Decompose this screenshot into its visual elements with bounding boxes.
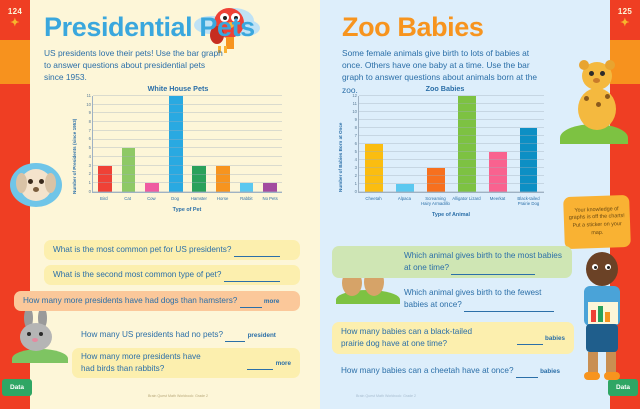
sticker-note: Your knowledge of graphs is off the char…	[563, 195, 631, 249]
chart-y-tick: 0	[89, 190, 91, 194]
chart-x-axis-label: Type of Animal	[358, 212, 544, 218]
chart-y-tick: 7	[89, 129, 91, 133]
question-4-unit: president	[248, 332, 276, 339]
chart-gridline	[93, 182, 282, 183]
question-box-7[interactable]: Which animal gives birth to the fewest b…	[332, 284, 572, 314]
question-box-9[interactable]: How many babies can a cheetah have at on…	[332, 362, 574, 380]
chart-bar	[216, 166, 230, 192]
chart-bar-cell	[235, 96, 259, 192]
answer-blank-8[interactable]	[517, 332, 543, 345]
chart-y-tick: 7	[355, 134, 357, 138]
section-tab-data-right[interactable]: Data	[608, 379, 638, 396]
section-tab-label: Data	[616, 384, 630, 391]
question-box-1[interactable]: What is the most common pet for US presi…	[44, 240, 300, 260]
section-tab-label: Data	[10, 384, 24, 391]
chart-gridline	[359, 95, 544, 96]
chart-gridline	[359, 159, 544, 160]
page-number-left: 124 ✦	[0, 7, 30, 29]
chart-y-tick: 2	[355, 174, 357, 178]
chart-plot-area: 01234567891011	[92, 96, 282, 193]
page-number-text: 124	[8, 7, 22, 16]
chart-y-tick: 10	[86, 103, 91, 107]
chart-gridline	[93, 174, 282, 175]
page-intro-left: US presidents love their pets! Use the b…	[44, 47, 224, 84]
footer-right: Brain Quest Math Workbook: Grade 2	[356, 394, 416, 398]
question-6-text: Which animal gives birth to the most bab…	[332, 250, 572, 275]
question-4-text: How many US presidents had no pets? pres…	[72, 329, 300, 342]
chart-gridline	[359, 127, 544, 128]
chart-plot-area: 0123456789101112	[358, 96, 544, 193]
chart-bar-cell	[140, 96, 164, 192]
chart-gridline	[93, 121, 282, 122]
chart-gridline	[359, 103, 544, 104]
chart-y-tick: 8	[355, 126, 357, 130]
chart-y-tick: 2	[89, 172, 91, 176]
chart-gridline	[359, 167, 544, 168]
chart-x-tick: Cow	[140, 196, 164, 201]
chart-gridline	[93, 191, 282, 192]
answer-blank-6[interactable]	[451, 262, 535, 275]
question-2-label: What is the second most common type of p…	[53, 270, 221, 279]
chart-title: White House Pets	[66, 84, 290, 93]
question-8-label: How many babies can a black-tailed prair…	[341, 326, 491, 350]
chart-bar-cell	[164, 96, 188, 192]
question-3-label: How many more presidents have had dogs t…	[23, 296, 237, 305]
chart-gridline	[93, 130, 282, 131]
answer-blank-7[interactable]	[464, 299, 554, 312]
footer-left: Brain Quest Math Workbook: Grade 2	[148, 394, 208, 398]
chart-zoo-babies: Zoo Babies Number of Babies Born at Once…	[332, 84, 558, 220]
chart-gridline	[359, 151, 544, 152]
chart-x-tick: Screaming Hairy Armadillo	[420, 196, 451, 207]
chart-x-tick: Dog	[163, 196, 187, 201]
question-box-5[interactable]: How many more presidents have had birds …	[72, 348, 300, 378]
chart-x-tick: Cat	[116, 196, 140, 201]
chart-gridline	[93, 139, 282, 140]
chart-bar	[427, 168, 445, 192]
chart-bar-cell	[211, 96, 235, 192]
chart-y-tick: 3	[89, 164, 91, 168]
chart-gridline	[93, 156, 282, 157]
chart-x-tick: Hamster	[187, 196, 211, 201]
chart-y-tick: 10	[352, 110, 357, 114]
page-number-text: 125	[618, 7, 632, 16]
chart-gridline	[93, 165, 282, 166]
page-edge-left	[0, 0, 30, 409]
sticker-note-text: Your knowledge of graphs is off the char…	[566, 206, 627, 238]
question-1-text: What is the most common pet for US presi…	[44, 244, 300, 257]
chart-bar	[122, 148, 136, 192]
chart-gridline	[359, 119, 544, 120]
question-3-unit: more	[264, 298, 279, 305]
chart-y-tick: 1	[89, 181, 91, 185]
chart-y-tick: 4	[355, 158, 357, 162]
question-box-8[interactable]: How many babies can a black-tailed prair…	[332, 322, 574, 354]
question-9-text: How many babies can a cheetah have at on…	[332, 365, 574, 378]
chart-x-tick: Cheetah	[358, 196, 389, 207]
chart-y-axis-label: Number of Presidents (since 1953)	[72, 119, 77, 194]
chart-y-tick: 11	[353, 102, 357, 106]
question-box-6[interactable]: Which animal gives birth to the most bab…	[332, 246, 572, 278]
chart-y-tick: 5	[355, 150, 357, 154]
chart-bars	[93, 96, 282, 192]
question-8-text: How many babies can a black-tailed prair…	[332, 326, 574, 350]
edge-color-band	[610, 40, 640, 84]
chart-y-tick: 9	[89, 111, 91, 115]
chart-x-tick-labels: CheetahAlpacaScreaming Hairy ArmadilloAl…	[358, 196, 544, 207]
chart-y-tick: 3	[355, 166, 357, 170]
chart-gridline	[359, 191, 544, 192]
chart-x-tick: Rabbit	[235, 196, 259, 201]
chart-bar-cell	[117, 96, 141, 192]
left-page: 124 ✦ Data Presidential Pets US presiden…	[0, 0, 320, 409]
question-9-label: How many babies can a cheetah have at on…	[341, 366, 514, 375]
chart-bar-cell	[93, 96, 117, 192]
chart-x-tick: Black-tailed Prairie Dog	[513, 196, 544, 207]
answer-blank-9[interactable]	[516, 365, 538, 378]
chart-x-axis-label: Type of Pet	[92, 207, 282, 213]
chart-gridline	[93, 147, 282, 148]
chart-y-tick: 0	[355, 190, 357, 194]
chart-gridline	[359, 143, 544, 144]
kite-icon: ✦	[610, 18, 640, 29]
question-2-text: What is the second most common type of p…	[44, 269, 300, 282]
section-tab-data-left[interactable]: Data	[2, 379, 32, 396]
question-8-unit: babies	[545, 335, 565, 342]
chart-bar	[489, 152, 507, 192]
chart-gridline	[93, 95, 282, 96]
page-number-right: 125 ✦	[610, 7, 640, 29]
chart-y-tick: 12	[352, 94, 357, 98]
question-5-text: How many more presidents have had birds …	[72, 351, 300, 375]
question-5-unit: more	[276, 360, 291, 367]
answer-blank-2[interactable]	[224, 269, 280, 282]
chart-y-tick: 8	[89, 120, 91, 124]
edge-color-band	[0, 40, 30, 84]
chart-x-tick-labels: BirdCatCowDogHamsterHorseRabbitNo Pets	[92, 196, 282, 201]
chart-y-tick: 9	[355, 118, 357, 122]
question-4-label: How many US presidents had no pets?	[81, 330, 223, 339]
chart-gridline	[359, 135, 544, 136]
chart-y-tick: 4	[89, 155, 91, 159]
page-title-left: Presidential Pets	[44, 12, 274, 43]
question-box-4[interactable]: How many US presidents had no pets? pres…	[72, 327, 300, 343]
chart-bar	[192, 166, 206, 192]
kite-icon: ✦	[0, 18, 30, 29]
chart-white-house-pets: White House Pets Number of Presidents (s…	[66, 84, 290, 214]
answer-blank-1[interactable]	[234, 244, 280, 257]
chart-bar	[169, 96, 183, 192]
question-7-text: Which animal gives birth to the fewest b…	[332, 287, 572, 312]
chart-x-tick: Alligator Lizard	[451, 196, 482, 207]
question-1-label: What is the most common pet for US presi…	[53, 245, 231, 254]
page-title-right: Zoo Babies	[342, 12, 592, 43]
question-9-unit: babies	[540, 368, 560, 375]
chart-x-tick: Horse	[211, 196, 235, 201]
chart-gridline	[93, 112, 282, 113]
chart-gridline	[93, 104, 282, 105]
chart-y-tick: 1	[355, 182, 357, 186]
chart-title: Zoo Babies	[332, 84, 558, 93]
answer-blank-5[interactable]	[247, 357, 273, 370]
question-box-2[interactable]: What is the second most common type of p…	[44, 265, 300, 285]
chart-x-tick: Meerkat	[482, 196, 513, 207]
chart-gridline	[359, 183, 544, 184]
chart-gridline	[359, 175, 544, 176]
chart-x-tick: No Pets	[258, 196, 282, 201]
question-box-3[interactable]: How many more presidents have had dogs t…	[14, 291, 300, 311]
chart-x-tick: Alpaca	[389, 196, 420, 207]
chart-y-tick: 6	[355, 142, 357, 146]
right-page: 125 ✦ Data Zoo Babies Some female animal…	[320, 0, 640, 409]
question-5-label: How many more presidents have had birds …	[81, 351, 201, 375]
chart-bar-cell	[258, 96, 282, 192]
answer-blank-3[interactable]	[240, 295, 262, 308]
answer-blank-4[interactable]	[225, 329, 245, 342]
chart-gridline	[359, 111, 544, 112]
chart-y-tick: 5	[89, 146, 91, 150]
chart-y-axis-label: Number of Babies Born at Once	[338, 123, 343, 192]
question-3-text: How many more presidents have had dogs t…	[14, 295, 300, 308]
chart-y-tick: 6	[89, 138, 91, 142]
chart-y-tick: 11	[87, 94, 91, 98]
chart-bar-cell	[188, 96, 212, 192]
chart-x-tick: Bird	[92, 196, 116, 201]
chart-bar	[98, 166, 112, 192]
